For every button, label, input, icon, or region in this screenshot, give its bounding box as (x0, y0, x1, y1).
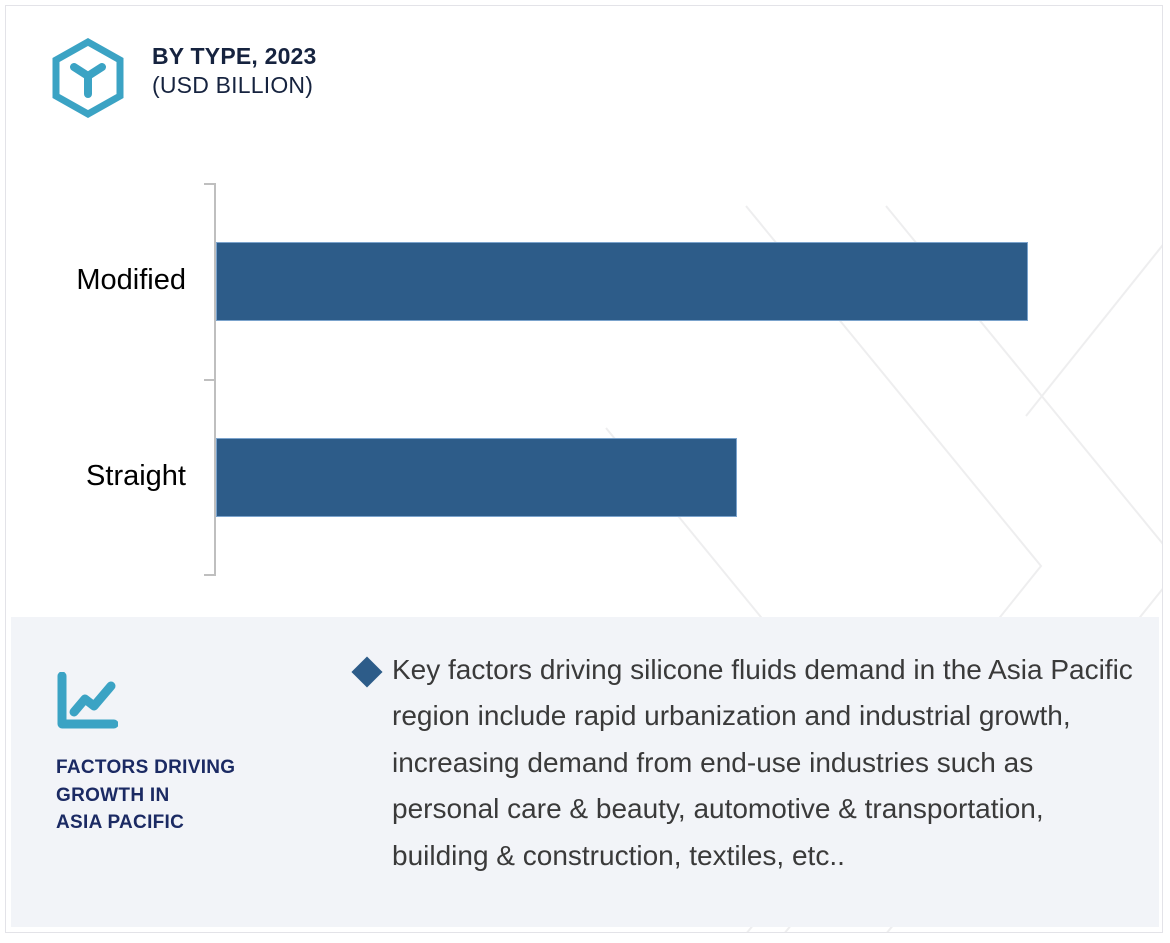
footer-panel: FACTORS DRIVING GROWTH IN ASIA PACIFIC K… (11, 617, 1159, 927)
footer-heading-line-2: GROWTH IN (56, 782, 356, 810)
diamond-bullet-icon (351, 656, 382, 687)
axis-tick (204, 183, 214, 185)
axis-tick (204, 574, 214, 576)
footer-heading: FACTORS DRIVING GROWTH IN ASIA PACIFIC (56, 754, 356, 837)
category-label-modified: Modified (5, 264, 186, 297)
infographic-card: BY TYPE, 2023 (USD BILLION) Modified Str… (5, 5, 1163, 933)
footer-body-text: Key factors driving silicone fluids dema… (392, 647, 1141, 879)
footer-left-column: FACTORS DRIVING GROWTH IN ASIA PACIFIC (11, 617, 356, 927)
category-label-straight: Straight (5, 460, 186, 493)
hexagon-y-icon (50, 38, 126, 118)
footer-heading-line-1: FACTORS DRIVING (56, 754, 356, 782)
axis-tick (204, 379, 214, 381)
bar-straight (216, 438, 737, 517)
footer-right-column: Key factors driving silicone fluids dema… (356, 617, 1159, 927)
footer-heading-line-3: ASIA PACIFIC (56, 809, 356, 837)
chart-header: BY TYPE, 2023 (USD BILLION) (50, 38, 317, 118)
bar-modified (216, 242, 1028, 321)
page-subtitle: (USD BILLION) (152, 73, 317, 99)
page-title: BY TYPE, 2023 (152, 44, 317, 70)
line-chart-icon (56, 672, 118, 730)
